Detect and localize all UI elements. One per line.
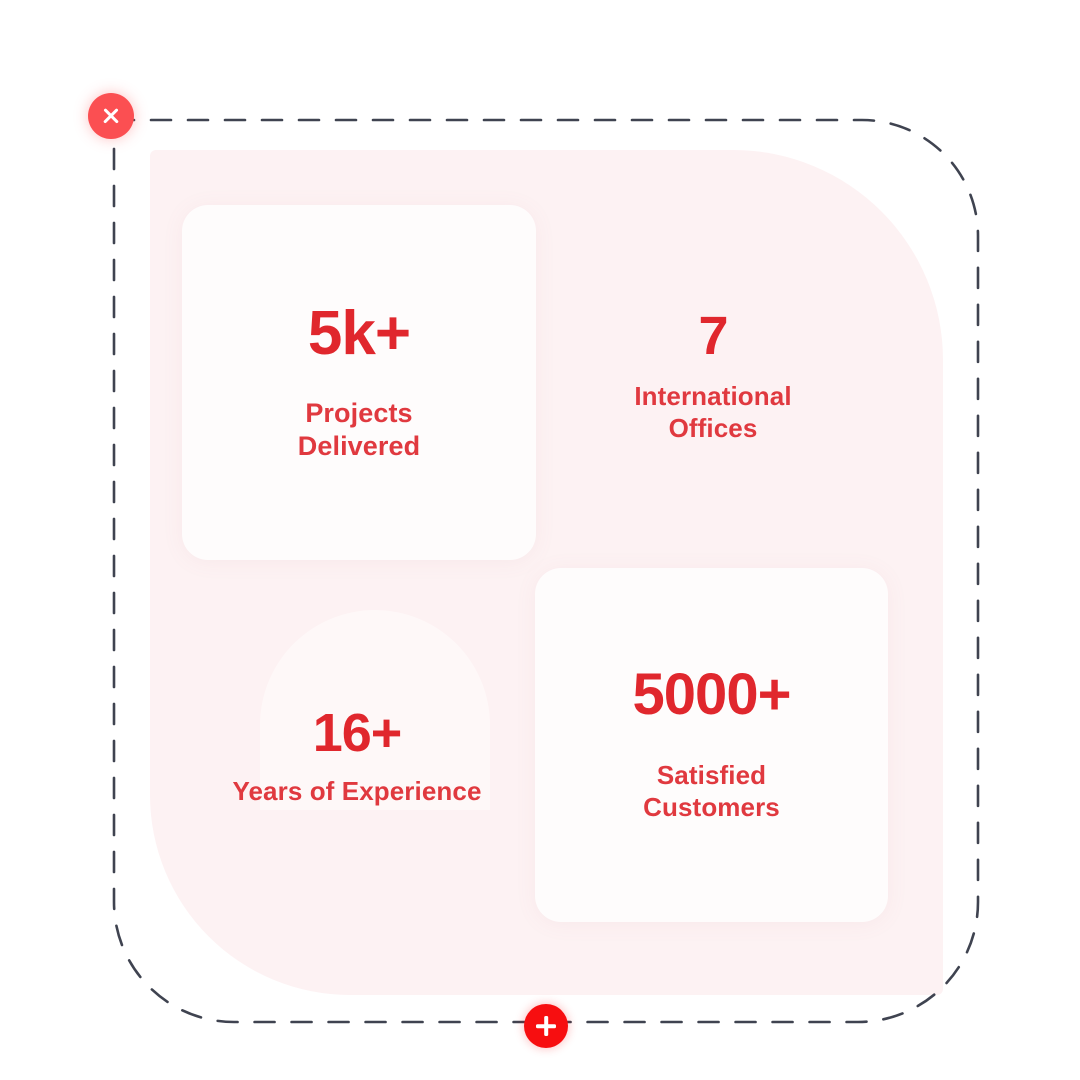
stat-value: 5k+	[308, 303, 410, 365]
stat-label: Projects Delivered	[298, 397, 420, 463]
stat-tile-customers[interactable]: 5000+ Satisfied Customers	[535, 568, 888, 922]
close-x-icon[interactable]	[88, 93, 134, 139]
close-x-glyph	[100, 105, 122, 127]
plus-icon[interactable]	[524, 1004, 568, 1048]
stat-value: 5000+	[633, 666, 791, 724]
stats-showcase: 5k+ Projects Delivered 7 International O…	[0, 0, 1080, 1080]
stat-tile-projects[interactable]: 5k+ Projects Delivered	[182, 205, 536, 560]
stat-value: 7	[698, 309, 727, 363]
stat-label: Years of Experience	[232, 776, 481, 808]
stat-tile-offices[interactable]: 7 International Offices	[588, 292, 838, 462]
stat-tile-experience[interactable]: 16+ Years of Experience	[207, 692, 507, 822]
stat-label: Satisfied Customers	[643, 760, 780, 823]
stat-value: 16+	[313, 706, 402, 760]
stat-label: International Offices	[634, 381, 791, 444]
plus-glyph	[535, 1015, 557, 1037]
